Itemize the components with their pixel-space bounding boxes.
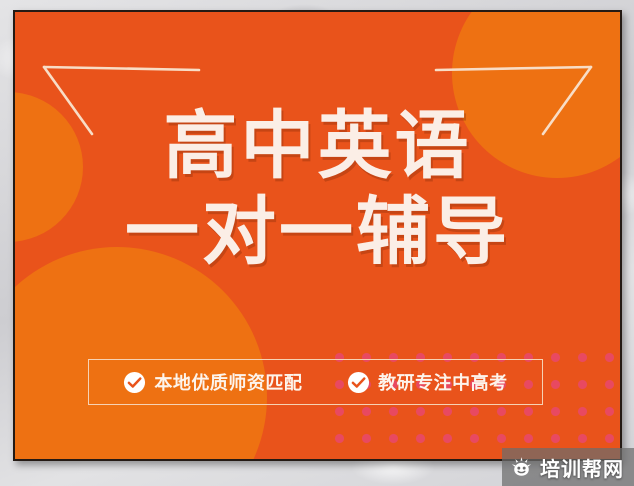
headline-line-1: 高中英语: [15, 104, 620, 190]
poster-headline: 高中英语 一对一辅导: [15, 104, 620, 276]
feature-label-2: 教研专注中高考: [378, 369, 508, 395]
decor-bracket-right-icon: [432, 64, 592, 159]
decor-circle-left-upper: [13, 92, 83, 242]
decor-circle-bottom-left: [13, 247, 267, 461]
feature-bar: 本地优质师资匹配 教研专注中高考: [88, 359, 543, 405]
headline-line-2: 一对一辅导: [15, 190, 620, 276]
watermark-text: 培训帮网: [540, 453, 624, 482]
image-canvas: 高中英语 一对一辅导 本地优质师资匹配 教研专注中高考: [0, 0, 634, 486]
check-circle-icon: [123, 371, 146, 394]
sunburst-smiley-icon: [510, 456, 533, 479]
decor-bracket-left-icon: [43, 64, 203, 159]
promotional-poster: 高中英语 一对一辅导 本地优质师资匹配 教研专注中高考: [13, 10, 622, 461]
check-circle-icon: [347, 371, 370, 394]
watermark: 培训帮网: [502, 448, 634, 486]
decor-circle-top-right: [452, 10, 622, 178]
feature-label-1: 本地优质师资匹配: [154, 369, 302, 395]
feature-item-1: 本地优质师资匹配: [123, 369, 302, 395]
feature-item-2: 教研专注中高考: [347, 369, 508, 395]
